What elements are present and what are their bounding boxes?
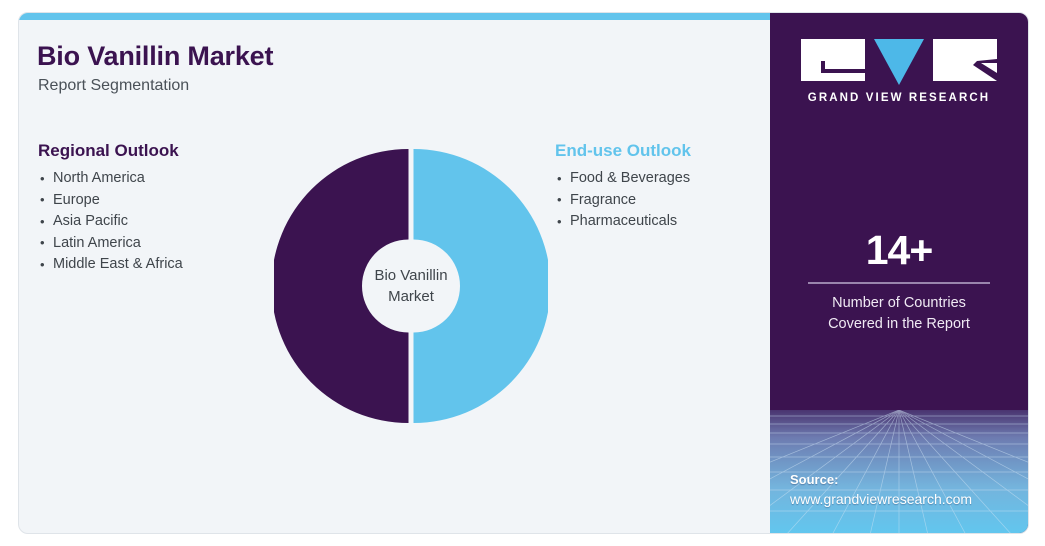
logo-g-icon xyxy=(801,39,865,81)
infographic-root: Bio Vanillin Market Report Segmentation … xyxy=(0,0,1045,546)
list-item: Europe xyxy=(38,190,288,212)
regional-outlook-heading: Regional Outlook xyxy=(38,141,288,161)
logo-marks xyxy=(770,39,1028,83)
list-item: Latin America xyxy=(38,233,288,255)
list-item: Asia Pacific xyxy=(38,211,288,233)
stat-caption-line1: Number of Countries xyxy=(770,293,1028,314)
list-item: Pharmaceuticals xyxy=(555,211,785,233)
list-item: Fragrance xyxy=(555,190,785,212)
list-item: North America xyxy=(38,168,288,190)
logo-v-icon xyxy=(874,39,924,85)
enduse-outlook-list: Food & Beverages Fragrance Pharmaceutica… xyxy=(555,168,785,233)
stat-caption: Number of Countries Covered in the Repor… xyxy=(770,293,1028,335)
stat-value: 14+ xyxy=(770,227,1028,273)
list-item: Middle East & Africa xyxy=(38,254,288,276)
stat-caption-line2: Covered in the Report xyxy=(770,314,1028,335)
donut-chart-svg xyxy=(274,149,548,423)
regional-outlook-section: Regional Outlook North America Europe As… xyxy=(38,141,288,276)
source-block: Source: www.grandviewresearch.com xyxy=(790,471,972,509)
page-title: Bio Vanillin Market xyxy=(37,41,273,72)
source-url[interactable]: www.grandviewresearch.com xyxy=(790,489,972,509)
stat-block: 14+ Number of Countries Covered in the R… xyxy=(770,227,1028,335)
report-card: Bio Vanillin Market Report Segmentation … xyxy=(18,12,1029,534)
regional-outlook-list: North America Europe Asia Pacific Latin … xyxy=(38,168,288,276)
enduse-outlook-section: End-use Outlook Food & Beverages Fragran… xyxy=(555,141,785,233)
stat-divider xyxy=(808,282,990,284)
brand-logo: GRAND VIEW RESEARCH xyxy=(770,39,1028,104)
logo-r-icon xyxy=(933,39,997,81)
donut-slice-regional xyxy=(274,149,409,423)
page-subtitle: Report Segmentation xyxy=(38,77,189,95)
top-accent-bar xyxy=(19,13,772,20)
donut-slice-enduse xyxy=(414,149,549,423)
logo-wordmark: GRAND VIEW RESEARCH xyxy=(770,92,1028,104)
list-item: Food & Beverages xyxy=(555,168,785,190)
donut-chart: Bio Vanillin Market xyxy=(274,149,548,423)
brand-panel: GRAND VIEW RESEARCH 14+ Number of Countr… xyxy=(770,13,1028,534)
source-label: Source: xyxy=(790,471,972,489)
enduse-outlook-heading: End-use Outlook xyxy=(555,141,785,161)
